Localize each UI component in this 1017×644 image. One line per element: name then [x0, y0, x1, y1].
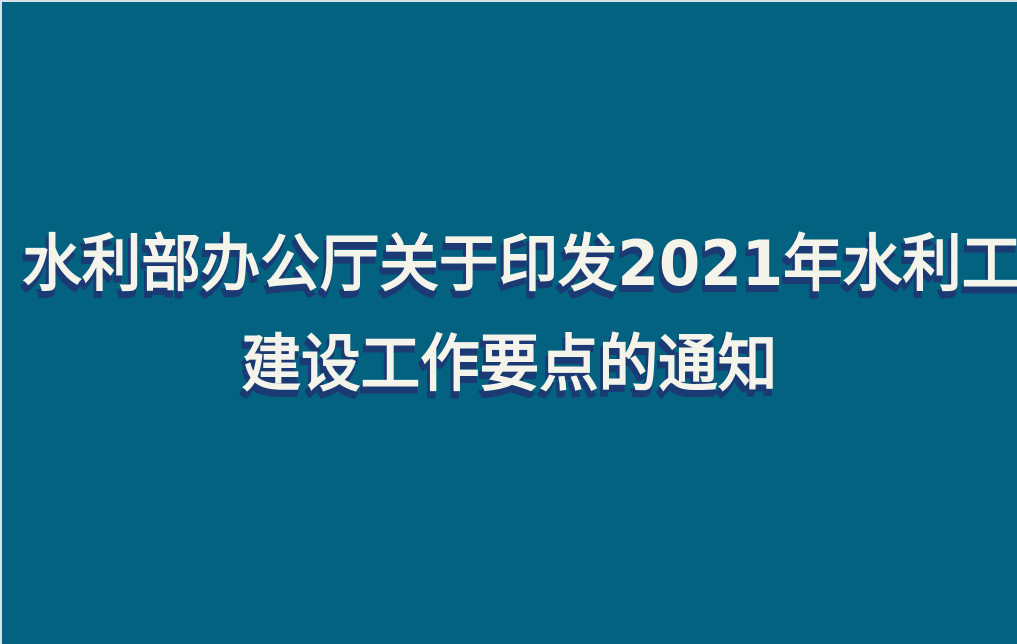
title-card-poster: 水利部办公厅关于印发2021年水利工程 建设工作要点的通知: [0, 0, 1017, 644]
page-title-line-2: 建设工作要点的通知: [22, 316, 996, 412]
page-title: 水利部办公厅关于印发2021年水利工程 建设工作要点的通知: [2, 216, 1017, 412]
page-title-line-1: 水利部办公厅关于印发2021年水利工程: [22, 216, 996, 312]
